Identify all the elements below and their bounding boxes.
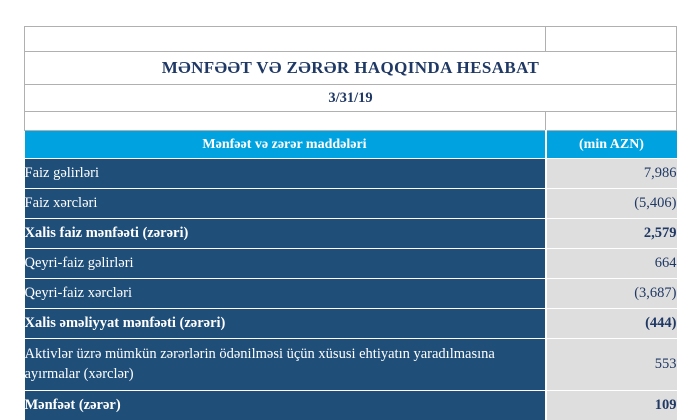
row-label: Aktivlər üzrə mümkün zərərlərin ödənilmə… [25, 339, 546, 391]
row-label: Faiz gəlirləri [25, 159, 546, 189]
table-body: MƏNFƏƏT VƏ ZƏRƏR HAQQINDA HESABAT 3/31/1… [25, 27, 677, 420]
separator-value-cell [546, 112, 677, 131]
table-row: Faiz xərcləri (5,406) [25, 189, 677, 219]
row-value: 2,579 [546, 219, 677, 249]
table-row-total: Mənfəət (zərər) 109 [25, 391, 677, 420]
title-row: MƏNFƏƏT VƏ ZƏRƏR HAQQINDA HESABAT [25, 52, 677, 85]
row-label: Mənfəət (zərər) [25, 391, 546, 420]
row-value: 7,986 [546, 159, 677, 189]
report-date: 3/31/19 [25, 85, 677, 112]
table-row: Qeyri-faiz xərcləri (3,687) [25, 279, 677, 309]
page-title: MƏNFƏƏT VƏ ZƏRƏR HAQQINDA HESABAT [25, 52, 677, 85]
table-row-subtotal: Xalis əməliyyat mənfəəti (zərəri) (444) [25, 309, 677, 339]
empty-top-label-cell [25, 27, 546, 52]
income-statement-table: MƏNFƏƏT VƏ ZƏRƏR HAQQINDA HESABAT 3/31/1… [24, 26, 677, 420]
row-value: 553 [546, 339, 677, 391]
table-row: Qeyri-faiz gəlirləri 664 [25, 249, 677, 279]
row-value: (3,687) [546, 279, 677, 309]
row-value: (5,406) [546, 189, 677, 219]
table-row: Aktivlər üzrə mümkün zərərlərin ödənilmə… [25, 339, 677, 391]
page-root: MƏNFƏƏT VƏ ZƏRƏR HAQQINDA HESABAT 3/31/1… [0, 0, 700, 407]
row-label: Xalis əməliyyat mənfəəti (zərəri) [25, 309, 546, 339]
column-header-items: Mənfəət və zərər maddələri [25, 131, 546, 159]
row-label: Faiz xərcləri [25, 189, 546, 219]
table-row: Faiz gəlirləri 7,986 [25, 159, 677, 189]
column-header-row: Mənfəət və zərər maddələri (min AZN) [25, 131, 677, 159]
row-label: Xalis faiz mənfəəti (zərəri) [25, 219, 546, 249]
column-header-units: (min AZN) [546, 131, 677, 159]
row-label: Qeyri-faiz xərcləri [25, 279, 546, 309]
empty-separator-row [25, 112, 677, 131]
separator-label-cell [25, 112, 546, 131]
table-row-subtotal: Xalis faiz mənfəəti (zərəri) 2,579 [25, 219, 677, 249]
row-value: (444) [546, 309, 677, 339]
empty-top-value-cell [546, 27, 677, 52]
empty-top-row [25, 27, 677, 52]
row-value: 664 [546, 249, 677, 279]
date-row: 3/31/19 [25, 85, 677, 112]
row-label: Qeyri-faiz gəlirləri [25, 249, 546, 279]
row-value: 109 [546, 391, 677, 420]
